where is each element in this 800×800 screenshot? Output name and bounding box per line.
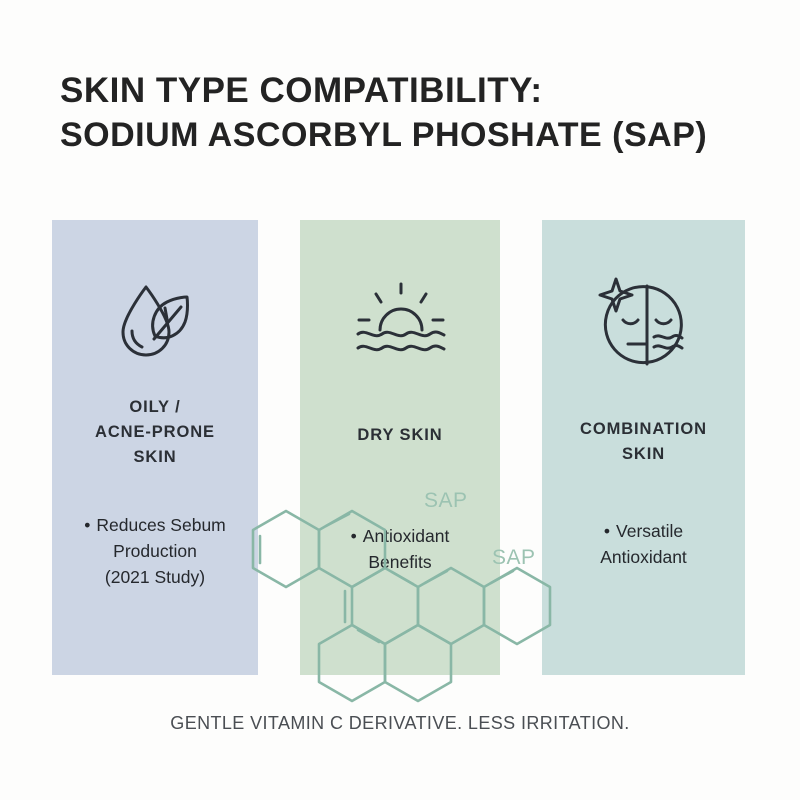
bullet-line-2: Benefits — [368, 552, 431, 572]
footer-tagline: GENTLE VITAMIN C DERIVATIVE. LESS IRRITA… — [0, 713, 800, 734]
infographic-canvas: SKIN TYPE COMPATIBILITY: SODIUM ASCORBYL… — [0, 0, 800, 800]
bullet-line-1: Antioxidant — [363, 526, 450, 546]
bullet-line-2: Antioxidant — [600, 547, 687, 567]
bullet-line-2-row: Benefits — [308, 549, 492, 575]
bullet-line-2-row: Production — [60, 538, 250, 564]
list-item: •Reduces Sebum — [60, 512, 250, 538]
split-face-sparkle-icon — [594, 273, 694, 378]
water-drop-leaf-icon — [105, 273, 205, 378]
column-dry-skin: DRY SKIN •Antioxidant Benefits — [300, 220, 500, 675]
list-item: •Versatile — [550, 518, 737, 544]
bullet-line-2: Production — [113, 541, 197, 561]
sun-over-water-icon — [350, 278, 450, 373]
bullet-line-1: Versatile — [616, 521, 683, 541]
bullet-marker: • — [604, 518, 610, 544]
heading-line-1: DRY SKIN — [306, 423, 494, 448]
heading-line-2: ACNE-PRONE — [58, 420, 252, 445]
heading-line-1: COMBINATION — [548, 417, 739, 442]
sap-label-1: SAP — [424, 489, 468, 513]
bullet-marker: • — [351, 523, 357, 549]
column-heading-combination: COMBINATION SKIN — [548, 417, 739, 467]
column-heading-dry: DRY SKIN — [306, 423, 494, 448]
bullet-list-combination: •Versatile Antioxidant — [550, 518, 737, 570]
heading-line-2: SKIN — [548, 442, 739, 467]
icon-wrap-combination — [542, 270, 745, 380]
bullet-line-1: Reduces Sebum — [96, 515, 225, 535]
icon-wrap-dry — [300, 270, 500, 380]
column-heading-oily: OILY / ACNE-PRONE SKIN — [58, 395, 252, 470]
icon-wrap-oily — [52, 270, 258, 380]
title-line-2: SODIUM ASCORBYL PHOSHATE (SAP) — [60, 113, 760, 158]
column-oily-acne-prone: OILY / ACNE-PRONE SKIN •Reduces Sebum Pr… — [52, 220, 258, 675]
bullet-marker: • — [84, 512, 90, 538]
bullet-line-3: (2021 Study) — [105, 567, 205, 587]
column-combination-skin: COMBINATION SKIN •Versatile Antioxidant — [542, 220, 745, 675]
heading-line-1: OILY / — [58, 395, 252, 420]
bullet-line-3-row: (2021 Study) — [60, 564, 250, 590]
title-line-1: SKIN TYPE COMPATIBILITY: — [60, 68, 760, 113]
heading-line-3: SKIN — [58, 445, 252, 470]
bullet-list-oily: •Reduces Sebum Production (2021 Study) — [60, 512, 250, 590]
sap-label-2: SAP — [492, 546, 536, 570]
bullet-list-dry: •Antioxidant Benefits — [308, 523, 492, 575]
page-title: SKIN TYPE COMPATIBILITY: SODIUM ASCORBYL… — [60, 68, 760, 158]
list-item: •Antioxidant — [308, 523, 492, 549]
bullet-line-2-row: Antioxidant — [550, 544, 737, 570]
